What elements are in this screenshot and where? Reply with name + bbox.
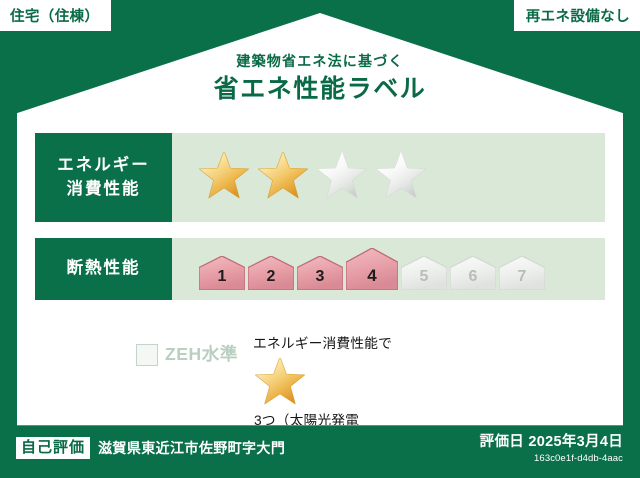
star-filled-icon (256, 152, 310, 204)
insulation-performance-row: 断熱性能 1234567 (35, 238, 605, 300)
page-title: 省エネ性能ラベル (0, 77, 640, 102)
energy-performance-row: エネルギー 消費性能 (35, 133, 605, 222)
insulation-level-scale: 1234567 (199, 248, 545, 290)
insulation-level-3: 3 (297, 256, 343, 290)
star-empty-icon (374, 152, 428, 204)
insulation-level-1: 1 (199, 256, 245, 290)
zeh-checkbox-icon (136, 344, 158, 366)
footer-divider (17, 425, 623, 426)
energy-performance-label-line2: 消費性能 (67, 178, 141, 202)
footer-left: 自己評価 滋賀県東近江市佐野町字大門 (16, 437, 285, 459)
footer: 自己評価 滋賀県東近江市佐野町字大門 評価日 2025年3月4日 163c0e1… (0, 425, 640, 478)
evaluation-type-badge: 自己評価 (16, 437, 90, 459)
title-block: 建築物省エネ法に基づく 省エネ性能ラベル (0, 54, 640, 102)
evaluation-date-value: 2025年3月4日 (528, 434, 623, 450)
badge-renewable-energy-label: 再エネ設備なし (526, 5, 630, 26)
label-subtitle: 建築物省エネ法に基づく (0, 54, 640, 68)
insulation-level-4: 4 (346, 248, 398, 290)
evaluation-date: 評価日 2025年3月4日 (480, 435, 623, 451)
badge-building-type: 住宅（住棟） (0, 0, 111, 31)
badge-renewable-energy: 再エネ設備なし (514, 0, 640, 31)
footer-right: 評価日 2025年3月4日 163c0e1f-d4db-4aac (480, 435, 623, 464)
star-rating (197, 152, 428, 204)
insulation-performance-label: 断熱性能 (67, 257, 141, 281)
zeh-description-line1-part1: エネルギー消費性能で (253, 336, 392, 351)
property-address: 滋賀県東近江市佐野町字大門 (98, 438, 285, 458)
energy-performance-label-line1: エネルギー (57, 154, 150, 178)
star-filled-icon (197, 152, 251, 204)
energy-performance-label: 住宅（住棟） 再エネ設備なし 建築物省エネ法に基づく 省エネ性能ラベル エネルギ… (0, 0, 640, 478)
insulation-level-7: 7 (499, 256, 545, 290)
insulation-level-6: 6 (450, 256, 496, 290)
insulation-level-5: 5 (401, 256, 447, 290)
badge-building-type-label: 住宅（住棟） (10, 5, 99, 26)
insulation-performance-value: 1234567 (172, 238, 605, 300)
energy-performance-value (172, 133, 605, 222)
insulation-level-2: 2 (248, 256, 294, 290)
zeh-mark: ZEH水準 (35, 333, 238, 366)
insulation-performance-label-box: 断熱性能 (35, 238, 172, 300)
evaluation-date-label: 評価日 (480, 434, 524, 450)
zeh-description-line1: エネルギー消費性能で3つ（太陽光発電 (253, 333, 520, 436)
zeh-mark-label: ZEH水準 (165, 346, 238, 364)
inline-star-icon (253, 358, 520, 410)
star-empty-icon (315, 152, 369, 204)
evaluation-id: 163c0e1f-d4db-4aac (480, 454, 623, 464)
energy-performance-label-box: エネルギー 消費性能 (35, 133, 172, 222)
